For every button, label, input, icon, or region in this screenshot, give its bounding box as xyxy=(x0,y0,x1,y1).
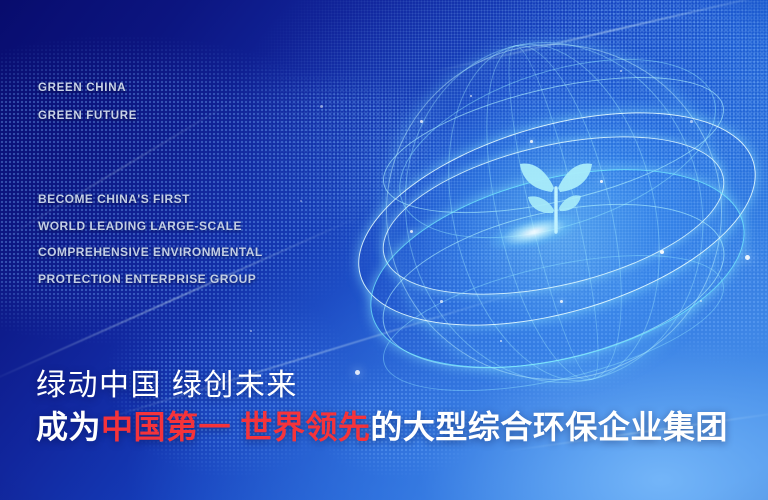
particle xyxy=(690,120,693,123)
particle xyxy=(660,250,664,254)
headline-prefix: 成为 xyxy=(36,409,101,445)
green-sprout-icon xyxy=(514,148,598,234)
mission-line-3: COMPREHENSIVE ENVIRONMENTAL xyxy=(38,239,263,266)
particle xyxy=(500,340,502,342)
headline-line-1: 绿动中国 绿创未来 xyxy=(36,366,728,406)
mission-line-2: WORLD LEADING LARGE-SCALE xyxy=(38,213,263,240)
particle xyxy=(560,300,563,303)
headline-line-2: 成为中国第一 世界领先的大型综合环保企业集团 xyxy=(36,406,728,448)
particle xyxy=(530,140,533,143)
headline-block: 绿动中国 绿创未来 成为中国第一 世界领先的大型综合环保企业集团 xyxy=(36,366,728,448)
particle xyxy=(420,120,423,123)
tagline-block: GREEN CHINA GREEN FUTURE xyxy=(38,74,137,130)
particle xyxy=(700,300,702,302)
mission-line-4: PROTECTION ENTERPRISE GROUP xyxy=(38,266,263,293)
mission-line-1: BECOME CHINA'S FIRST xyxy=(38,186,263,213)
particle xyxy=(470,95,472,97)
particle xyxy=(745,255,750,260)
particle xyxy=(620,70,622,72)
mission-block: BECOME CHINA'S FIRST WORLD LEADING LARGE… xyxy=(38,186,263,292)
particle xyxy=(410,230,413,233)
particle xyxy=(320,105,323,108)
hero-banner: GREEN CHINA GREEN FUTURE BECOME CHINA'S … xyxy=(0,0,768,500)
particle xyxy=(600,180,603,183)
particle xyxy=(250,330,252,332)
tagline-line-2: GREEN FUTURE xyxy=(38,102,137,130)
headline-highlight: 中国第一 世界领先 xyxy=(101,409,370,445)
headline-suffix: 的大型综合环保企业集团 xyxy=(370,409,728,445)
particle xyxy=(440,300,443,303)
globe-graphic xyxy=(386,44,722,380)
tagline-line-1: GREEN CHINA xyxy=(38,74,137,102)
particle xyxy=(300,200,302,202)
